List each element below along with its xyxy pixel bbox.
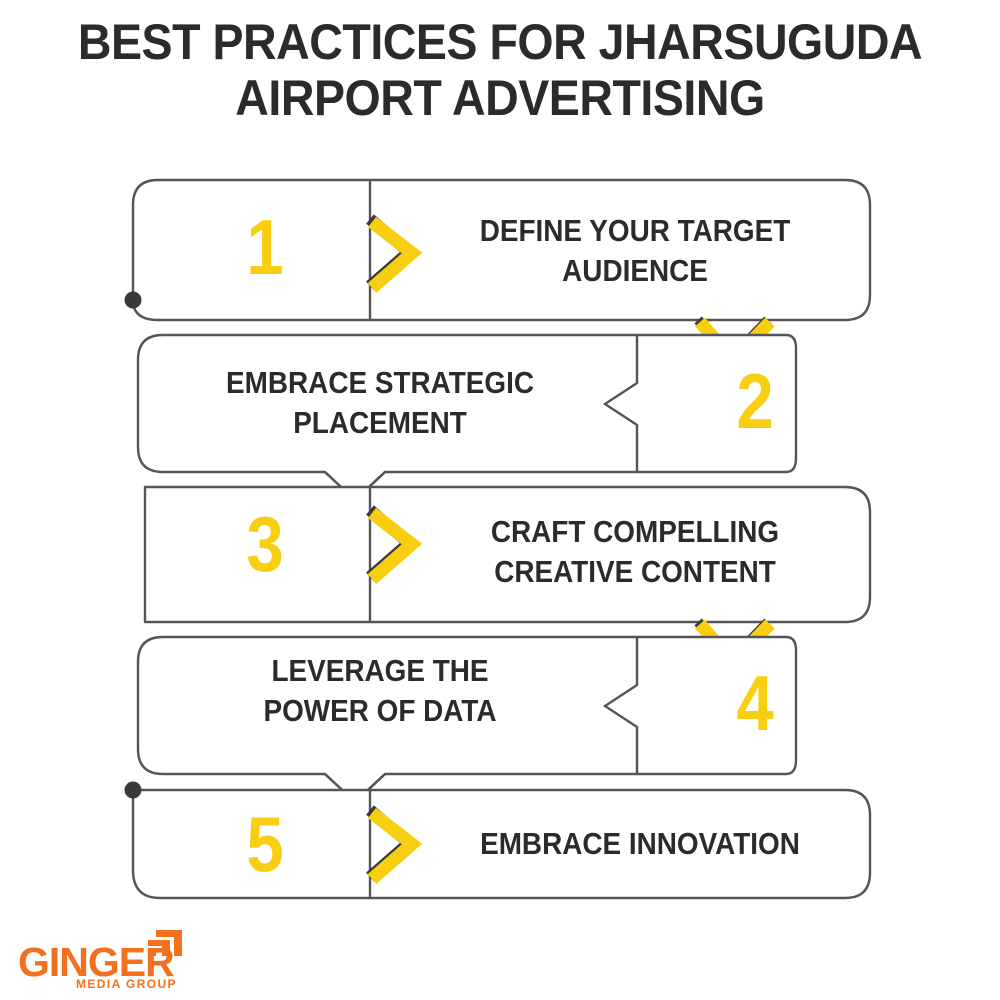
step-2-number: 2	[708, 362, 803, 440]
step-1-label: DEFINE YOUR TARGET AUDIENCE	[433, 211, 838, 291]
step-3-number: 3	[218, 505, 313, 583]
step-5-label: EMBRACE INNOVATION	[433, 824, 847, 864]
brand-logo[interactable]: GINGER MEDIA GROUP	[18, 928, 228, 990]
step-3-label: CRAFT COMPELLING CREATIVE CONTENT	[433, 512, 838, 592]
step-5-number: 5	[218, 805, 313, 883]
step-1-endpoint-dot	[125, 292, 142, 309]
nested-corner-squares-icon	[144, 928, 190, 968]
logo-subtitle: MEDIA GROUP	[76, 978, 177, 990]
step-5-endpoint-dot	[125, 782, 142, 799]
step-4-label: LEVERAGE THE POWER OF DATA	[178, 651, 583, 731]
step-4-number: 4	[708, 664, 803, 742]
step-1-number: 1	[218, 208, 313, 286]
step-2-label: EMBRACE STRATEGIC PLACEMENT	[178, 363, 583, 443]
